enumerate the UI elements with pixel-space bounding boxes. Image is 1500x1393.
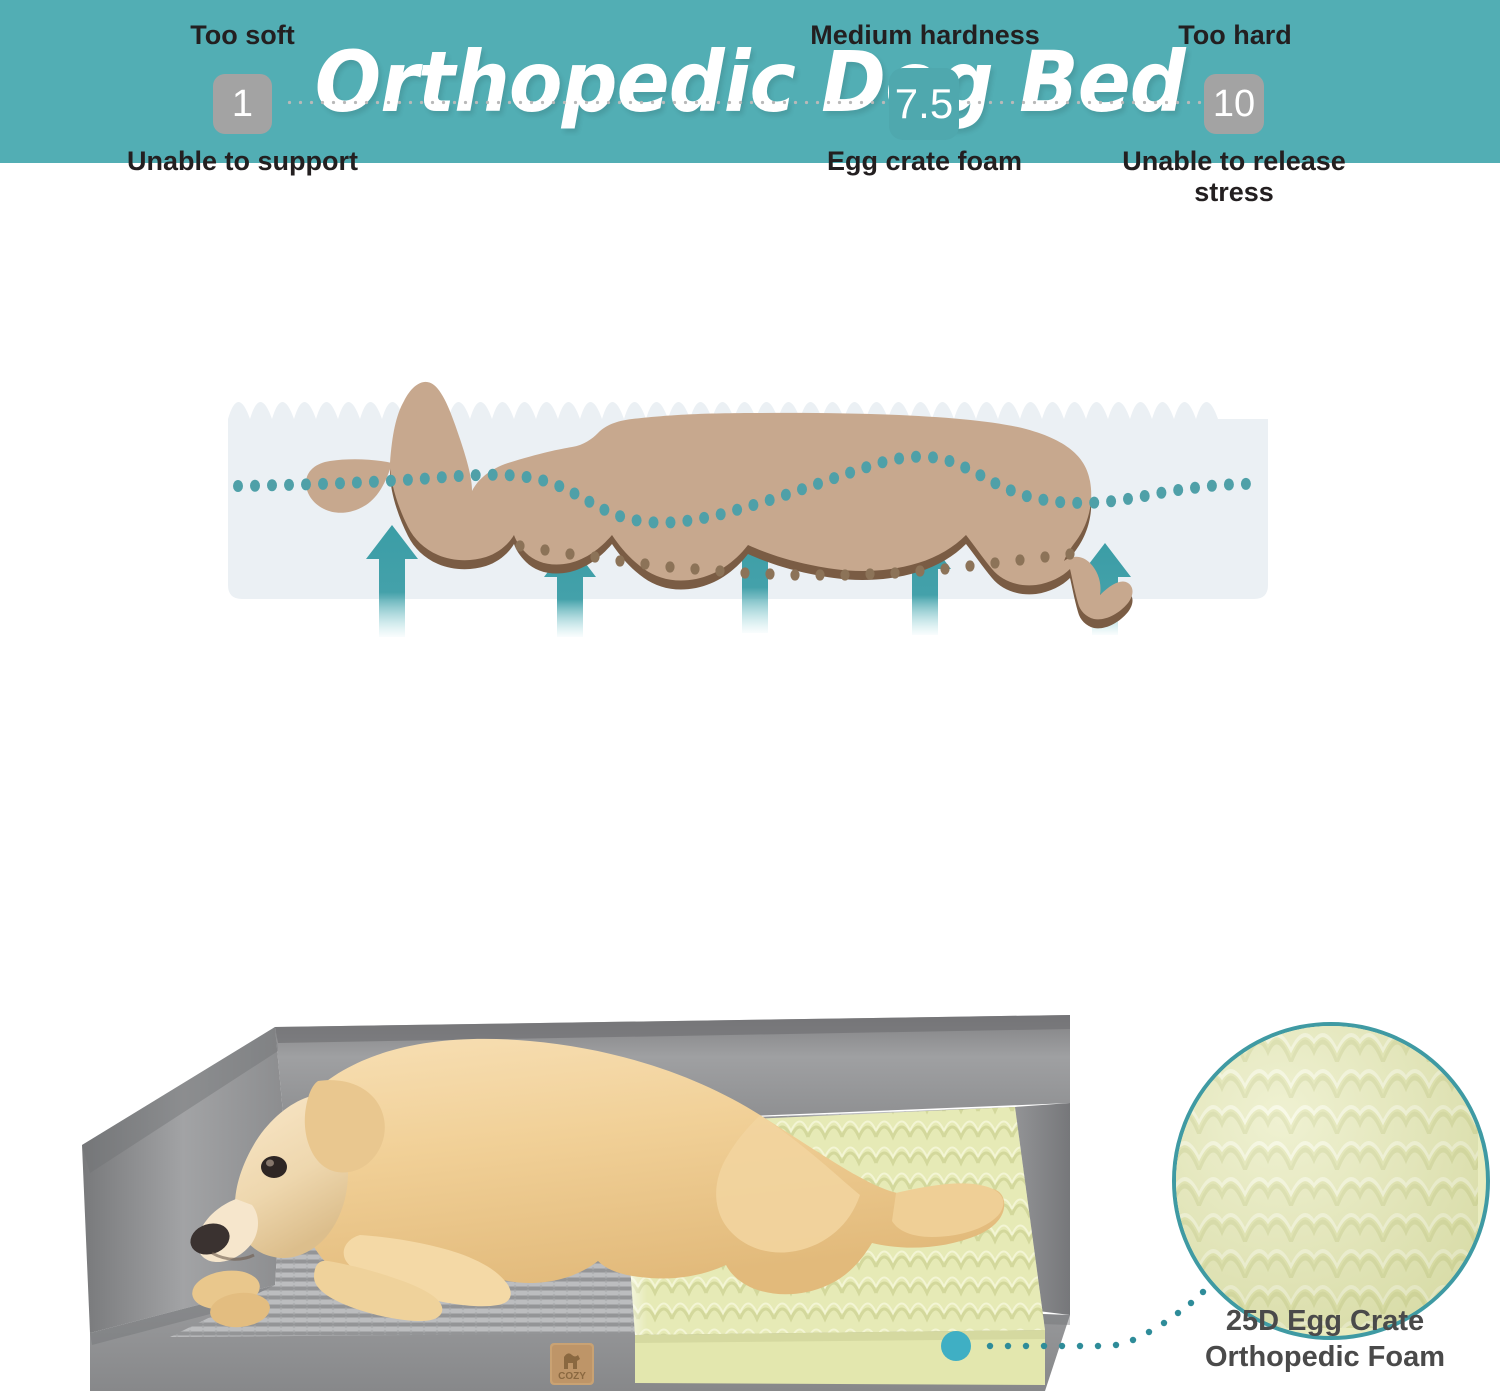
scale-line-left [284, 100, 888, 105]
scale-value-box-2[interactable]: 7.5 [889, 68, 959, 140]
scale-line-right [963, 100, 1206, 105]
scale-bottom-label-2: Egg crate foam [742, 146, 1107, 177]
scale-value-box-3[interactable]: 10 [1204, 74, 1264, 134]
scale-bottom-label-3: Unable to release stress [1089, 146, 1379, 208]
pressure-contour-line [0, 163, 1500, 683]
scale-bottom-label-1: Unable to support [50, 146, 435, 177]
foam-caption-line1: 25D Egg Crate [1160, 1303, 1490, 1339]
firmness-rating-scale: Too soft 1 Unable to support Medium hard… [0, 0, 1500, 230]
callout-anchor-dot[interactable] [941, 1331, 971, 1361]
foam-caption-line2: Orthopedic Foam [1160, 1339, 1490, 1375]
foam-callout-caption: 25D Egg Crate Orthopedic Foam [1160, 1303, 1490, 1376]
scale-top-label-1: Too soft [125, 20, 360, 51]
foam-detail-callout[interactable] [1172, 1022, 1490, 1340]
support-diagram [0, 163, 1500, 683]
scale-top-label-3: Too hard [1120, 20, 1350, 51]
scale-value-box-1[interactable]: 1 [213, 74, 272, 134]
scale-top-label-2: Medium hardness [775, 20, 1075, 51]
